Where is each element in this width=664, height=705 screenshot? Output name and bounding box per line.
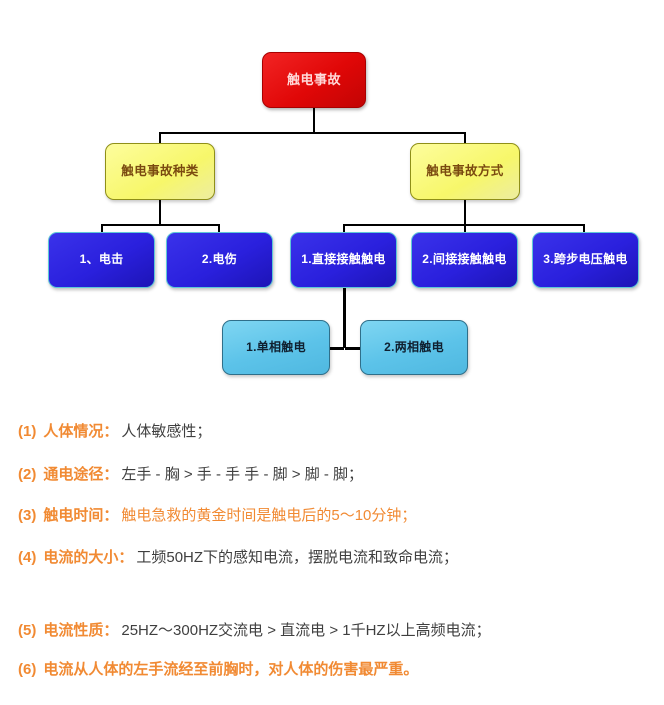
connector-modes-stem [464, 200, 466, 225]
connector-direct-arm-left [330, 347, 344, 350]
node-indirect-contact-label: 2.间接接触触电 [422, 253, 506, 267]
note-item-3-number: (3) [18, 507, 36, 524]
note-item-6: (6)电流从人体的左手流经至前胸时，对人体的伤害最严重。 [18, 662, 421, 677]
node-accident-types-label: 触电事故种类 [121, 164, 198, 178]
node-single-phase-shock[interactable]: 1.单相触电 [222, 320, 330, 375]
node-electric-shock[interactable]: 1、电击 [48, 232, 155, 288]
note-item-2: (2)通电途径：左手 - 胸 > 手 - 手 手 - 脚 > 脚 - 脚； [18, 467, 363, 482]
node-two-phase-shock-label: 2.两相触电 [384, 341, 444, 355]
note-item-2-number: (2) [18, 466, 36, 483]
note-item-3-label: 触电时间： [43, 507, 118, 524]
note-item-1: (1)人体情况：人体敏感性； [18, 424, 211, 439]
notes-list: (1)人体情况：人体敏感性； (2)通电途径：左手 - 胸 > 手 - 手 手 … [0, 400, 664, 705]
node-accident-modes[interactable]: 触电事故方式 [410, 143, 520, 200]
note-item-6-label: 电流从人体的左手流经至前胸时，对人体的伤害最严重。 [43, 661, 418, 678]
note-item-4-label: 电流的大小： [43, 549, 133, 566]
connector-root-stem [313, 108, 315, 134]
node-step-voltage[interactable]: 3.跨步电压触电 [532, 232, 639, 288]
node-electric-injury[interactable]: 2.电伤 [166, 232, 273, 288]
node-electric-shock-label: 1、电击 [80, 253, 124, 267]
note-item-5-number: (5) [18, 622, 36, 639]
node-two-phase-shock[interactable]: 2.两相触电 [360, 320, 468, 375]
note-item-4-number: (4) [18, 549, 36, 566]
node-accident-modes-label: 触电事故方式 [426, 164, 503, 178]
node-root-electric-shock-accident[interactable]: 触电事故 [262, 52, 366, 108]
note-item-1-number: (1) [18, 423, 36, 440]
note-item-2-label: 通电途径： [43, 466, 118, 483]
note-item-4: (4)电流的大小：工频50HZ下的感知电流，摆脱电流和致命电流； [18, 550, 458, 565]
connector-types-bus [101, 224, 220, 226]
note-item-5-label: 电流性质： [43, 622, 118, 639]
node-accident-types[interactable]: 触电事故种类 [105, 143, 215, 200]
node-root-label: 触电事故 [287, 73, 341, 88]
note-item-5: (5)电流性质：25HZ～300HZ交流电 > 直流电 > 1千HZ以上高频电流… [18, 623, 491, 638]
note-item-3: (3)触电时间：触电急救的黄金时间是触电后的5～10分钟； [18, 508, 416, 523]
connector-types-stem [159, 200, 161, 225]
connector-direct-arm-right [345, 347, 361, 350]
node-electric-injury-label: 2.电伤 [202, 253, 237, 267]
node-indirect-contact[interactable]: 2.间接接触触电 [411, 232, 518, 288]
connector-level2-bus [159, 132, 466, 134]
note-item-3-body: 触电急救的黄金时间是触电后的5～10分钟； [121, 507, 416, 524]
flowchart-diagram: 触电事故 触电事故种类 触电事故方式 1、电击 2.电伤 1.直接接触触电 2.… [0, 0, 664, 400]
note-item-4-body: 工频50HZ下的感知电流，摆脱电流和致命电流； [136, 549, 458, 566]
note-item-1-body: 人体敏感性； [121, 423, 211, 440]
note-item-5-body: 25HZ～300HZ交流电 > 直流电 > 1千HZ以上高频电流； [121, 622, 490, 639]
connector-direct-stem [343, 288, 346, 348]
note-item-1-label: 人体情况： [43, 423, 118, 440]
node-direct-contact[interactable]: 1.直接接触触电 [290, 232, 397, 288]
node-direct-contact-label: 1.直接接触触电 [301, 253, 385, 267]
note-item-6-number: (6) [18, 661, 36, 678]
node-step-voltage-label: 3.跨步电压触电 [543, 253, 627, 267]
note-item-2-body: 左手 - 胸 > 手 - 手 手 - 脚 > 脚 - 脚； [121, 466, 363, 483]
node-single-phase-shock-label: 1.单相触电 [246, 341, 306, 355]
